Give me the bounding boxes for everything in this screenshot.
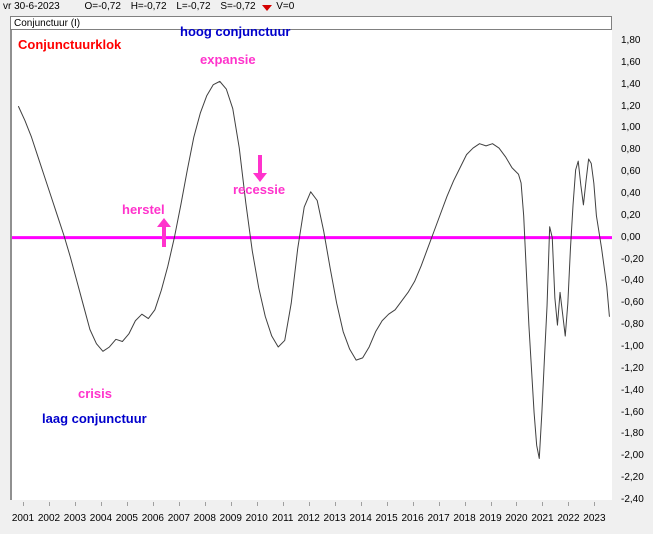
y-axis-tick-label: -0,80 [621,320,644,330]
status-settle: S=-0,72 [220,0,255,14]
y-axis-tick-label: -2,40 [621,495,644,505]
x-axis-tick-mark [23,502,24,506]
chart-plot-area[interactable] [12,30,612,500]
annotation-expansie: expansie [200,53,256,67]
x-axis-tick-label: 2010 [246,514,268,524]
x-axis-tick-mark [465,502,466,506]
x-axis-tick-label: 2001 [12,514,34,524]
arrow-herstel-icon [157,218,171,247]
annotation-arrow-layer [157,155,267,247]
x-axis-tick-mark [361,502,362,506]
x-axis-tick-label: 2019 [479,514,501,524]
status-open: O=-0,72 [84,0,120,14]
x-axis-tick-label: 2012 [298,514,320,524]
down-triangle-icon [262,5,272,11]
x-axis-tick-mark [179,502,180,506]
x-axis-tick-label: 2016 [401,514,423,524]
x-axis-tick-label: 2004 [90,514,112,524]
status-bar: vr 30-6-2023 O=-0,72 H=-0,72 L=-0,72 S=-… [0,0,653,14]
y-axis-tick-label: -0,40 [621,276,644,286]
x-axis: 2001200220032004200520062007200820092010… [10,502,612,534]
conjunctuur-line-chart [12,30,612,500]
x-axis-tick-mark [205,502,206,506]
x-axis-tick-label: 2002 [38,514,60,524]
x-axis-tick-mark [491,502,492,506]
y-axis-tick-label: 1,20 [621,102,640,112]
y-axis-tick-label: 0,80 [621,145,640,155]
y-axis-tick-label: -1,80 [621,429,644,439]
x-axis-tick-mark [335,502,336,506]
y-axis-tick-label: 0,40 [621,189,640,199]
y-axis-tick-label: 1,40 [621,80,640,90]
x-axis-tick-label: 2014 [350,514,372,524]
status-date: vr 30-6-2023 [3,0,60,14]
conjunctuur-series-line [18,81,609,458]
x-axis-tick-mark [153,502,154,506]
annotation-hoog-conjunctuur: hoog conjunctuur [180,25,290,39]
x-axis-tick-label: 2013 [324,514,346,524]
status-low: L=-0,72 [176,0,210,14]
x-axis-tick-mark [49,502,50,506]
x-axis-tick-mark [127,502,128,506]
x-axis-tick-mark [568,502,569,506]
x-axis-tick-label: 2009 [220,514,242,524]
x-axis-tick-label: 2003 [64,514,86,524]
x-axis-tick-label: 2011 [272,514,294,524]
x-axis-tick-mark [231,502,232,506]
x-axis-tick-mark [101,502,102,506]
annotation-recessie: recessie [233,183,285,197]
y-axis-tick-label: -1,40 [621,386,644,396]
x-axis-tick-label: 2007 [168,514,190,524]
x-axis-tick-mark [542,502,543,506]
y-axis-tick-label: -2,00 [621,451,644,461]
x-axis-tick-mark [75,502,76,506]
y-axis-tick-label: 1,00 [621,123,640,133]
x-axis-tick-mark [257,502,258,506]
x-axis-tick-label: 2005 [116,514,138,524]
y-axis-tick-label: 0,00 [621,233,640,243]
status-high: H=-0,72 [131,0,167,14]
x-axis-tick-mark [516,502,517,506]
x-axis-tick-mark [387,502,388,506]
y-axis-tick-label: -0,60 [621,298,644,308]
status-volume: V=0 [276,0,294,14]
y-axis-tick-label: 1,80 [621,36,640,46]
x-axis-tick-label: 2006 [142,514,164,524]
annotation-laag-conjunctuur: laag conjunctuur [42,412,147,426]
x-axis-tick-mark [439,502,440,506]
y-axis-tick-label: -1,00 [621,342,644,352]
x-axis-tick-mark [594,502,595,506]
x-axis-tick-mark [309,502,310,506]
x-axis-tick-label: 2017 [427,514,449,524]
y-axis-tick-label: -1,60 [621,408,644,418]
y-axis-tick-label: 0,60 [621,167,640,177]
x-axis-tick-label: 2018 [453,514,475,524]
x-axis-tick-label: 2022 [557,514,579,524]
y-axis-tick-label: 0,20 [621,211,640,221]
x-axis-tick-label: 2021 [531,514,553,524]
annotation-herstel: herstel [122,203,165,217]
x-axis-tick-mark [283,502,284,506]
annotation-crisis: crisis [78,387,112,401]
x-axis-tick-label: 2015 [375,514,397,524]
x-axis-tick-label: 2020 [505,514,527,524]
y-axis-tick-label: -1,20 [621,364,644,374]
x-axis-tick-label: 2023 [583,514,605,524]
y-axis-tick-label: 1,60 [621,58,640,68]
arrow-recessie-icon [253,155,267,182]
y-axis-tick-label: -0,20 [621,255,644,265]
y-axis: 1,801,601,401,201,000,800,600,400,200,00… [613,30,653,510]
x-axis-tick-label: 2008 [194,514,216,524]
x-axis-tick-mark [413,502,414,506]
annotation-conjunctuurklok: Conjunctuurklok [18,38,121,52]
series-label-box[interactable]: Conjunctuur (I) [10,16,612,30]
y-axis-tick-label: -2,20 [621,473,644,483]
chart-plot-frame [10,30,612,500]
